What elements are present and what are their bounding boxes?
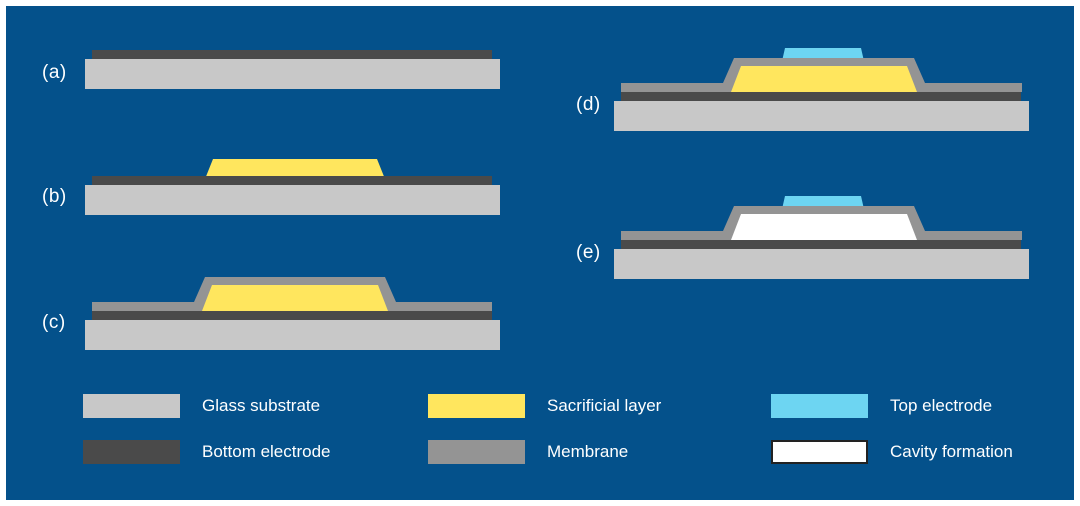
sacrificial-layer-shape [202, 285, 388, 311]
panel-d-stack [576, 36, 1036, 126]
sacrificial-layer-swatch [428, 394, 525, 418]
figure-root: (a) (b) (c) [0, 0, 1080, 506]
legend-item-bottom-electrode: Bottom electrode [83, 440, 331, 464]
panel-a-stack [42, 44, 502, 92]
legend-item-cavity-formation: Cavity formation [771, 440, 1013, 464]
legend-label-top-electrode: Top electrode [890, 396, 992, 416]
legend-item-glass-substrate: Glass substrate [83, 394, 320, 418]
legend-label-membrane: Membrane [547, 442, 628, 462]
bottom-electrode-layer [621, 240, 1021, 249]
panel-b: (b) [42, 146, 502, 216]
bottom-electrode-layer [92, 311, 492, 320]
bottom-electrode-swatch [83, 440, 180, 464]
cavity-formation-swatch [771, 440, 868, 464]
glass-substrate-swatch [83, 394, 180, 418]
legend-label-cavity-formation: Cavity formation [890, 442, 1013, 462]
legend-item-top-electrode: Top electrode [771, 394, 992, 418]
glass-substrate-layer [614, 249, 1029, 279]
bottom-electrode-layer [92, 176, 492, 185]
bottom-electrode-layer [92, 50, 492, 59]
panel-c-stack [42, 264, 502, 344]
legend-item-sacrificial-layer: Sacrificial layer [428, 394, 661, 418]
sacrificial-layer-shape [731, 66, 917, 92]
legend-item-membrane: Membrane [428, 440, 628, 464]
legend-label-sacrificial-layer: Sacrificial layer [547, 396, 661, 416]
glass-substrate-layer [85, 59, 500, 89]
panel-e: (e) [576, 188, 1036, 274]
legend-label-glass-substrate: Glass substrate [202, 396, 320, 416]
panel-a: (a) [42, 44, 502, 92]
glass-substrate-layer [614, 101, 1029, 131]
bottom-electrode-layer [621, 92, 1021, 101]
panel-e-stack [576, 188, 1036, 274]
panel-c: (c) [42, 264, 502, 344]
cavity-layer [731, 214, 917, 240]
glass-substrate-layer [85, 320, 500, 350]
panel-d: (d) [576, 36, 1036, 126]
membrane-swatch [428, 440, 525, 464]
panel-b-stack [42, 146, 502, 216]
glass-substrate-layer [85, 185, 500, 215]
legend-label-bottom-electrode: Bottom electrode [202, 442, 331, 462]
top-electrode-swatch [771, 394, 868, 418]
figure-canvas: (a) (b) (c) [6, 6, 1074, 500]
